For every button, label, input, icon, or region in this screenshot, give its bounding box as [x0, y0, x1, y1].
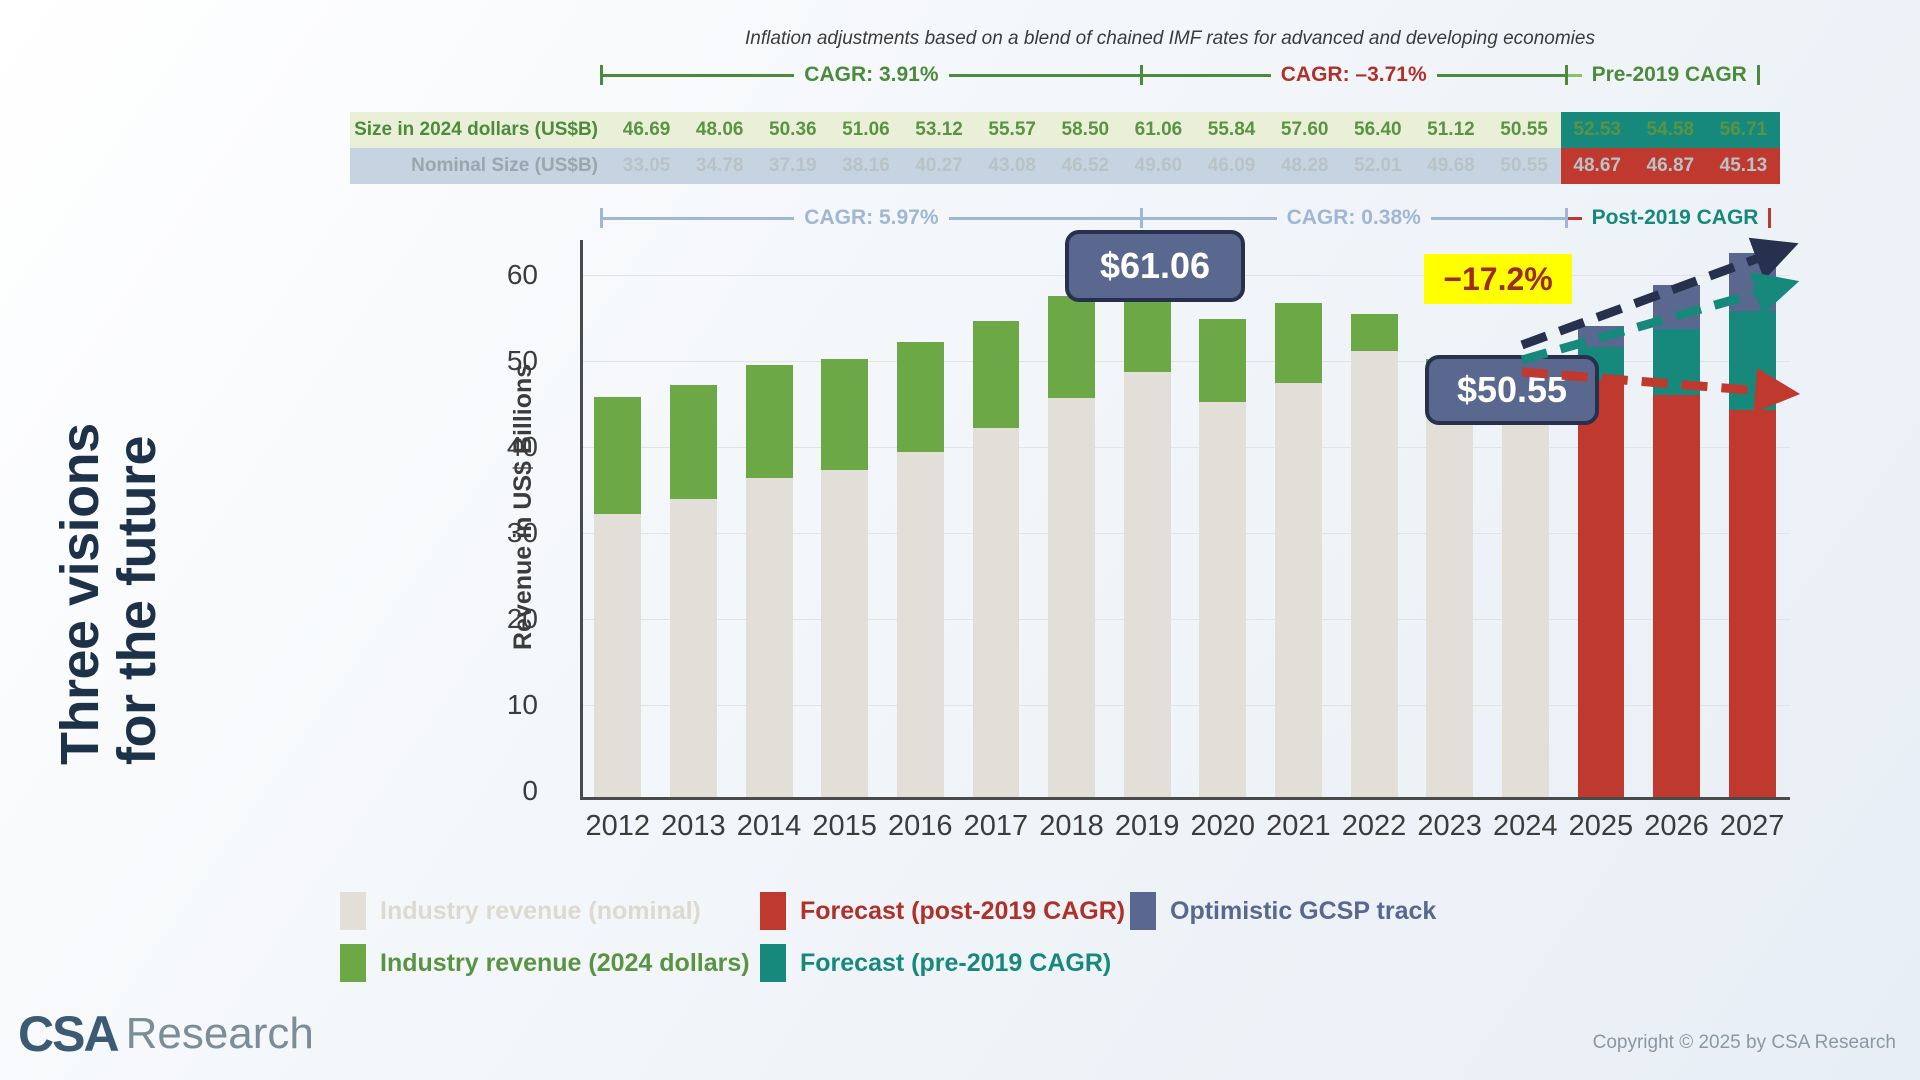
cagr-segment-6: Post-2019 CAGR: [1568, 203, 1780, 233]
data-table: Size in 2024 dollars (US$B) 46.69 48.06 …: [350, 112, 1780, 184]
rule: [1143, 217, 1277, 220]
x-axis-label-2020: 2020: [1185, 810, 1261, 843]
cagr-segment-2: CAGR: –3.71%: [1143, 60, 1568, 90]
bar-column-2014: [731, 240, 807, 797]
y-tick-40: 40: [478, 431, 538, 463]
chart-subtitle: Inflation adjustments based on a blend o…: [560, 28, 1780, 50]
bar: [594, 397, 641, 797]
rule: [1437, 74, 1565, 77]
x-axis-label-2019: 2019: [1109, 810, 1185, 843]
bar-column-2021: [1261, 240, 1337, 797]
copyright-text: Copyright © 2025 by CSA Research: [1593, 1032, 1896, 1054]
segment-nominal: [1199, 402, 1246, 797]
x-axis-label-2012: 2012: [580, 810, 656, 843]
table-row-real: Size in 2024 dollars (US$B) 46.69 48.06 …: [350, 112, 1780, 148]
legend-label: Forecast (pre-2019 CAGR): [800, 949, 1111, 978]
bar-column-2016: [883, 240, 959, 797]
segment-nominal: [821, 470, 868, 797]
x-axis-label-2018: 2018: [1034, 810, 1110, 843]
cagr-band-bottom: CAGR: 5.97% CAGR: 0.38% Post-2019 CAGR: [600, 203, 1780, 233]
legend-item-real: Industry revenue (2024 dollars): [340, 944, 760, 982]
bar: [1502, 364, 1549, 797]
table-cell: 58.50: [1049, 112, 1122, 148]
table-cell-forecast: 48.67: [1561, 148, 1634, 184]
segment-post2019: [1578, 380, 1625, 797]
cagr-label-5: CAGR: 0.38%: [1277, 206, 1431, 230]
table-cell: 53.12: [903, 112, 976, 148]
legend-label: Forecast (post-2019 CAGR): [800, 897, 1125, 926]
table-cell: 51.12: [1414, 112, 1487, 148]
table-cell-forecast: 54.58: [1634, 112, 1707, 148]
x-axis-label-2027: 2027: [1714, 810, 1790, 843]
x-axis-labels: 2012201320142015201620172018201920202021…: [580, 810, 1790, 843]
x-axis-label-2017: 2017: [958, 810, 1034, 843]
segment-nominal: [1048, 398, 1095, 797]
legend-item-gcsp: Optimistic GCSP track: [1130, 892, 1436, 930]
rule: [949, 217, 1140, 220]
bar-column-2018: [1034, 240, 1110, 797]
legend-label: Industry revenue (2024 dollars): [380, 949, 750, 978]
bar: [1124, 274, 1171, 797]
bar: [1351, 314, 1398, 797]
table-cell-forecast: 46.87: [1634, 148, 1707, 184]
bar-series-group: [580, 240, 1790, 797]
table-cell: 48.06: [683, 112, 756, 148]
legend-swatch-icon: [340, 892, 366, 930]
segment-nominal: [1275, 383, 1322, 797]
status-badge-decline: −17.2%: [1424, 254, 1572, 304]
legend-swatch-icon: [760, 892, 786, 930]
x-axis-label-2015: 2015: [807, 810, 883, 843]
table-cell: 49.68: [1414, 148, 1487, 184]
table-cell: 52.01: [1341, 148, 1414, 184]
cap-right: [1768, 208, 1771, 228]
cagr-segment-5: CAGR: 0.38%: [1143, 203, 1568, 233]
brand-logo: CSA Research: [18, 1005, 314, 1063]
row-label-real: Size in 2024 dollars (US$B): [350, 119, 610, 141]
table-cell: 57.60: [1268, 112, 1341, 148]
x-axis-label-2026: 2026: [1639, 810, 1715, 843]
y-tick-0: 0: [478, 775, 538, 807]
x-axis-label-2021: 2021: [1261, 810, 1337, 843]
bar: [746, 365, 793, 797]
table-cell: 46.09: [1195, 148, 1268, 184]
cap-right: [1757, 65, 1760, 85]
row-cells-real: 46.69 48.06 50.36 51.06 53.12 55.57 58.5…: [610, 112, 1780, 148]
bar: [1048, 296, 1095, 797]
legend-swatch-icon: [760, 944, 786, 982]
table-cell-forecast: 45.13: [1707, 148, 1780, 184]
table-cell-forecast: 56.71: [1707, 112, 1780, 148]
table-cell: 49.60: [1122, 148, 1195, 184]
table-row-nominal: Nominal Size (US$B) 33.05 34.78 37.19 38…: [350, 148, 1780, 184]
segment-nominal: [897, 452, 944, 797]
segment-nominal: [670, 499, 717, 797]
rule: [1431, 217, 1565, 220]
table-cell: 46.52: [1049, 148, 1122, 184]
table-cell: 40.27: [903, 148, 976, 184]
segment-post2019: [1653, 395, 1700, 797]
x-axis-label-2016: 2016: [883, 810, 959, 843]
rule: [1143, 74, 1271, 77]
bar-column-2022: [1336, 240, 1412, 797]
x-axis-label-2022: 2022: [1336, 810, 1412, 843]
bar: [1729, 253, 1776, 797]
x-axis-label-2014: 2014: [731, 810, 807, 843]
table-cell: 50.55: [1488, 148, 1561, 184]
row-cells-nominal: 33.05 34.78 37.19 38.16 40.27 43.08 46.5…: [610, 148, 1780, 184]
y-tick-30: 30: [478, 517, 538, 549]
callout-2024-value: $50.55: [1425, 355, 1599, 425]
logo-mark: CSA: [18, 1005, 118, 1063]
x-axis-line: [580, 797, 1790, 800]
table-cell: 48.28: [1268, 148, 1341, 184]
bar-column-2015: [807, 240, 883, 797]
segment-nominal: [1351, 351, 1398, 797]
bar-column-2027: [1714, 240, 1790, 797]
bar-column-2020: [1185, 240, 1261, 797]
legend-item-pre2019: Forecast (pre-2019 CAGR): [760, 944, 1111, 982]
cagr-label-6: Post-2019 CAGR: [1582, 206, 1769, 230]
page-title: Three visions for the future: [52, 265, 242, 785]
plot-area: 60 50 40 30 20 10 0: [500, 240, 1790, 800]
segment-nominal: [594, 514, 641, 797]
bar-column-2024: [1488, 240, 1564, 797]
x-axis-label-2025: 2025: [1563, 810, 1639, 843]
bar-column-2012: [580, 240, 656, 797]
y-tick-60: 60: [478, 259, 538, 291]
cagr-segment-3: Pre-2019 CAGR: [1568, 60, 1780, 90]
bar: [973, 321, 1020, 797]
table-cell-forecast: 52.53: [1561, 112, 1634, 148]
legend-swatch-icon: [340, 944, 366, 982]
bar-column-2026: [1639, 240, 1715, 797]
table-cell: 50.36: [756, 112, 829, 148]
y-tick-10: 10: [478, 689, 538, 721]
legend-row-2: Industry revenue (2024 dollars) Forecast…: [340, 937, 1640, 989]
bar: [1653, 285, 1700, 797]
cagr-segment-4: CAGR: 5.97%: [600, 203, 1143, 233]
bar-column-2017: [958, 240, 1034, 797]
x-axis-label-2013: 2013: [656, 810, 732, 843]
row-label-nominal: Nominal Size (US$B): [350, 155, 610, 177]
cagr-label-4: CAGR: 5.97%: [794, 206, 948, 230]
legend-row-1: Industry revenue (nominal) Forecast (pos…: [340, 885, 1640, 937]
x-axis-label-2023: 2023: [1412, 810, 1488, 843]
cagr-label-1: CAGR: 3.91%: [794, 63, 948, 87]
table-cell: 50.55: [1488, 112, 1561, 148]
bar-column-2023: [1412, 240, 1488, 797]
bar: [670, 385, 717, 797]
cagr-segment-1: CAGR: 3.91%: [600, 60, 1143, 90]
rule: [603, 217, 794, 220]
table-cell: 38.16: [829, 148, 902, 184]
segment-nominal: [1124, 372, 1171, 797]
bar-column-2019: [1109, 240, 1185, 797]
legend: Industry revenue (nominal) Forecast (pos…: [340, 885, 1640, 989]
title-line-2: for the future: [109, 245, 166, 765]
rule: [1568, 74, 1582, 77]
slide-root: Three visions for the future Inflation a…: [0, 0, 1920, 1080]
cagr-label-2: CAGR: –3.71%: [1271, 63, 1437, 87]
cagr-label-3: Pre-2019 CAGR: [1582, 63, 1757, 87]
table-cell: 55.84: [1195, 112, 1268, 148]
segment-nominal: [973, 428, 1020, 797]
y-tick-50: 50: [478, 345, 538, 377]
legend-item-nominal: Industry revenue (nominal): [340, 892, 760, 930]
bar: [1275, 303, 1322, 797]
table-cell: 43.08: [976, 148, 1049, 184]
rule: [603, 74, 794, 77]
legend-swatch-icon: [1130, 892, 1156, 930]
legend-label: Industry revenue (nominal): [380, 897, 701, 926]
rule: [949, 74, 1140, 77]
rule: [1568, 217, 1582, 220]
cagr-band-top: CAGR: 3.91% CAGR: –3.71% Pre-2019 CAGR: [600, 60, 1780, 90]
segment-nominal: [1502, 364, 1549, 797]
bar: [897, 342, 944, 797]
segment-nominal: [746, 478, 793, 797]
table-cell: 55.57: [976, 112, 1049, 148]
segment-nominal: [1426, 371, 1473, 797]
x-axis-label-2024: 2024: [1488, 810, 1564, 843]
table-cell: 37.19: [756, 148, 829, 184]
legend-item-post2019: Forecast (post-2019 CAGR): [760, 892, 1130, 930]
segment-post2019: [1729, 410, 1776, 797]
title-line-1: Three visions: [52, 245, 109, 765]
table-cell: 34.78: [683, 148, 756, 184]
logo-subtext: Research: [126, 1009, 314, 1059]
table-cell: 46.69: [610, 112, 683, 148]
bar: [1199, 319, 1246, 798]
callout-peak-value: $61.06: [1065, 230, 1245, 302]
table-cell: 56.40: [1341, 112, 1414, 148]
table-cell: 33.05: [610, 148, 683, 184]
table-cell: 61.06: [1122, 112, 1195, 148]
bar-column-2013: [656, 240, 732, 797]
y-tick-20: 20: [478, 603, 538, 635]
bar: [821, 359, 868, 797]
table-cell: 51.06: [829, 112, 902, 148]
legend-label: Optimistic GCSP track: [1170, 897, 1436, 926]
bar-column-2025: [1563, 240, 1639, 797]
